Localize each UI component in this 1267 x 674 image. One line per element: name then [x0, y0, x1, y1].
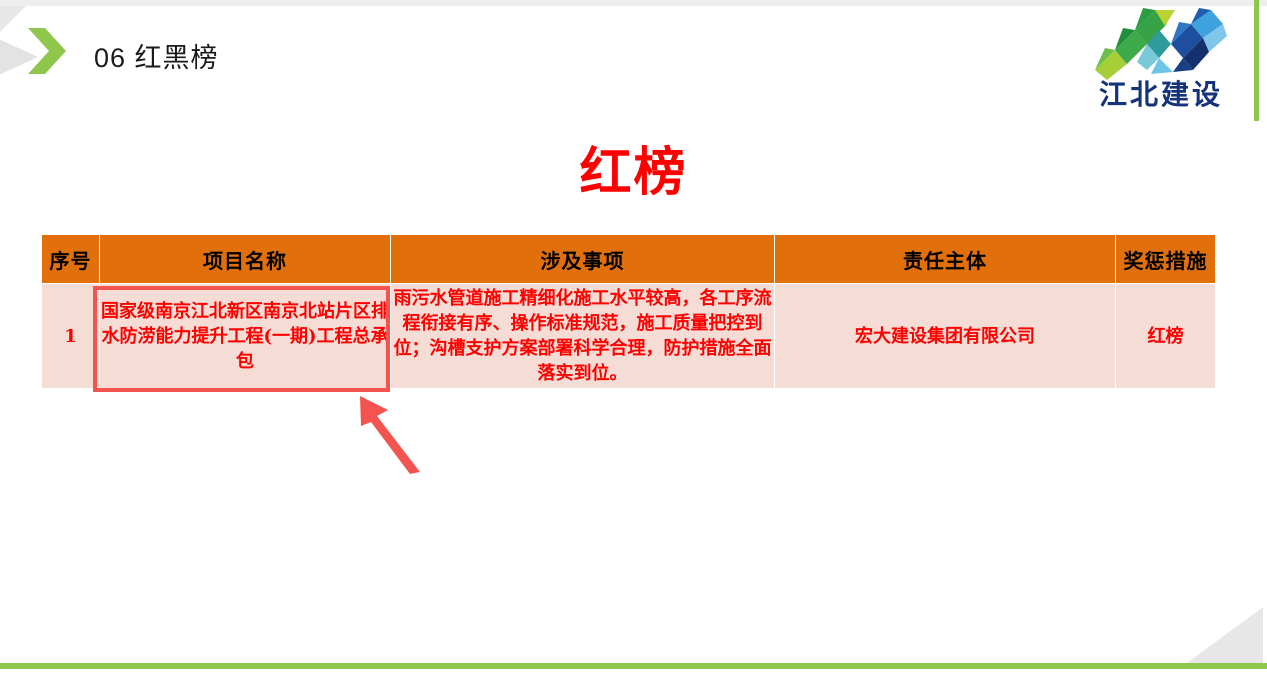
logo-company-name: 江北建设 [1099, 81, 1223, 109]
bottom-right-corner-triangle [1187, 607, 1263, 663]
table-header-row: 序号 项目名称 涉及事项 责任主体 奖惩措施 [42, 235, 1216, 284]
bottom-green-rule [0, 663, 1267, 669]
column-header-measure: 奖惩措施 [1116, 235, 1216, 284]
company-logo: 江北建设 [1081, 8, 1241, 120]
column-header-index: 序号 [42, 235, 100, 284]
chevron-right-green-icon [28, 28, 66, 74]
cell-responsible-party: 宏大建设集团有限公司 [775, 284, 1116, 389]
column-header-project-name: 项目名称 [100, 235, 391, 284]
table-body: 1 国家级南京江北新区南京北站片区排水防涝能力提升工程(一期)工程总承包 雨污水… [42, 284, 1216, 389]
column-header-matter: 涉及事项 [391, 235, 775, 284]
cell-measure: 红榜 [1116, 284, 1216, 389]
red-list-table-wrapper: 序号 项目名称 涉及事项 责任主体 奖惩措施 1 国家级南京江北新区南京北站片区… [41, 234, 1213, 389]
table-row: 1 国家级南京江北新区南京北站片区排水防涝能力提升工程(一期)工程总承包 雨污水… [42, 284, 1216, 389]
cell-matter: 雨污水管道施工精细化施工水平较高，各工序流程衔接有序、操作标准规范，施工质量把控… [391, 284, 775, 389]
table-header: 序号 项目名称 涉及事项 责任主体 奖惩措施 [42, 235, 1216, 284]
red-list-table: 序号 项目名称 涉及事项 责任主体 奖惩措施 1 国家级南京江北新区南京北站片区… [41, 234, 1216, 389]
slide-title: 红榜 [0, 142, 1267, 204]
page-title: 06 红黑榜 [94, 36, 219, 75]
column-header-responsible-party: 责任主体 [775, 235, 1116, 284]
cell-project-name: 国家级南京江北新区南京北站片区排水防涝能力提升工程(一期)工程总承包 [100, 284, 391, 389]
jiangbei-construction-n-logo-icon [1093, 8, 1229, 80]
cell-index: 1 [42, 284, 100, 389]
page-header: 06 红黑榜 江北建设 [0, 0, 1267, 122]
arrow-up-left-red-icon [358, 392, 428, 474]
